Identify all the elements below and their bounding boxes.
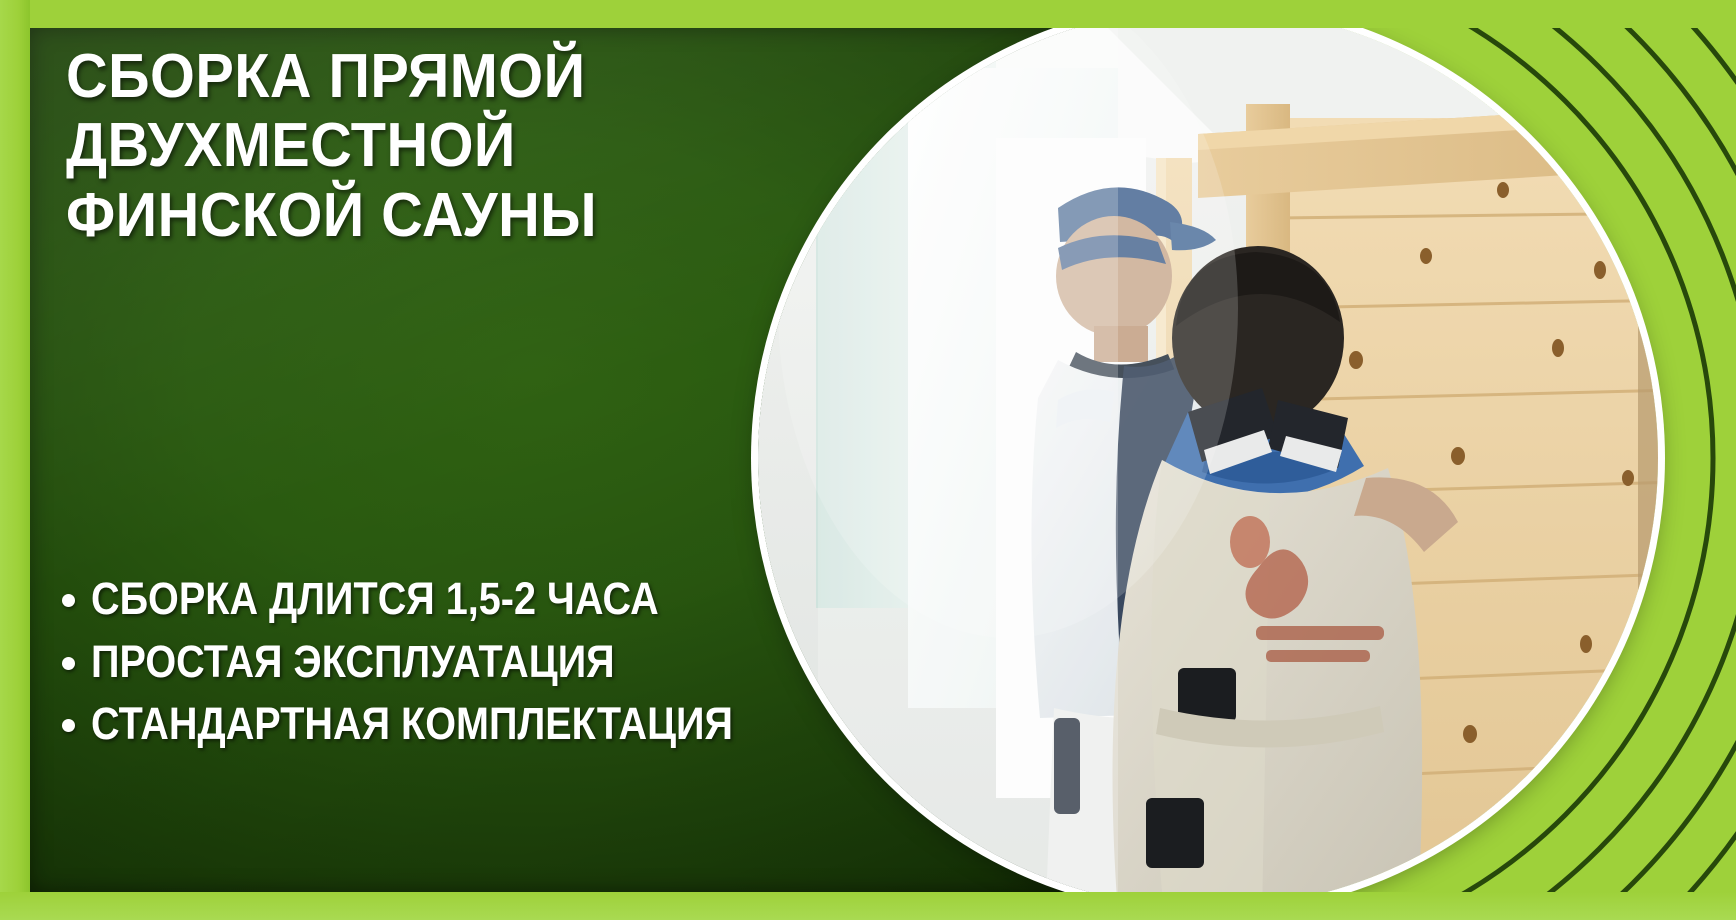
frame-left-edge	[0, 0, 30, 920]
sauna-photo-illustration	[758, 8, 1658, 908]
frame-bottom-edge	[0, 892, 1736, 920]
bullet-dot-icon	[62, 594, 75, 607]
sauna-photo-image	[758, 8, 1658, 908]
list-item: ПРОСТАЯ ЭКСПЛУАТАЦИЯ	[62, 638, 892, 687]
bullet-dot-icon	[62, 719, 75, 732]
list-item: СТАНДАРТНАЯ КОМПЛЕКТАЦИЯ	[62, 700, 892, 749]
sauna-photo	[758, 8, 1658, 908]
title-line-2: ДВУХМЕСТНОЙ	[66, 111, 717, 180]
title-line-1: СБОРКА ПРЯМОЙ	[66, 42, 717, 111]
page-title: СБОРКА ПРЯМОЙ ДВУХМЕСТНОЙ ФИНСКОЙ САУНЫ	[66, 42, 717, 250]
list-item-label: СТАНДАРТНАЯ КОМПЛЕКТАЦИЯ	[91, 700, 733, 749]
list-item: СБОРКА ДЛИТСЯ 1,5-2 ЧАСА	[62, 575, 892, 624]
feature-list: СБОРКА ДЛИТСЯ 1,5-2 ЧАСА ПРОСТАЯ ЭКСПЛУА…	[62, 575, 892, 763]
title-line-3: ФИНСКОЙ САУНЫ	[66, 181, 717, 250]
list-item-label: СБОРКА ДЛИТСЯ 1,5-2 ЧАСА	[91, 575, 659, 624]
banner-root: СБОРКА ПРЯМОЙ ДВУХМЕСТНОЙ ФИНСКОЙ САУНЫ …	[0, 0, 1736, 920]
list-item-label: ПРОСТАЯ ЭКСПЛУАТАЦИЯ	[91, 638, 615, 687]
frame-top-edge	[0, 0, 1736, 28]
bullet-dot-icon	[62, 657, 75, 670]
